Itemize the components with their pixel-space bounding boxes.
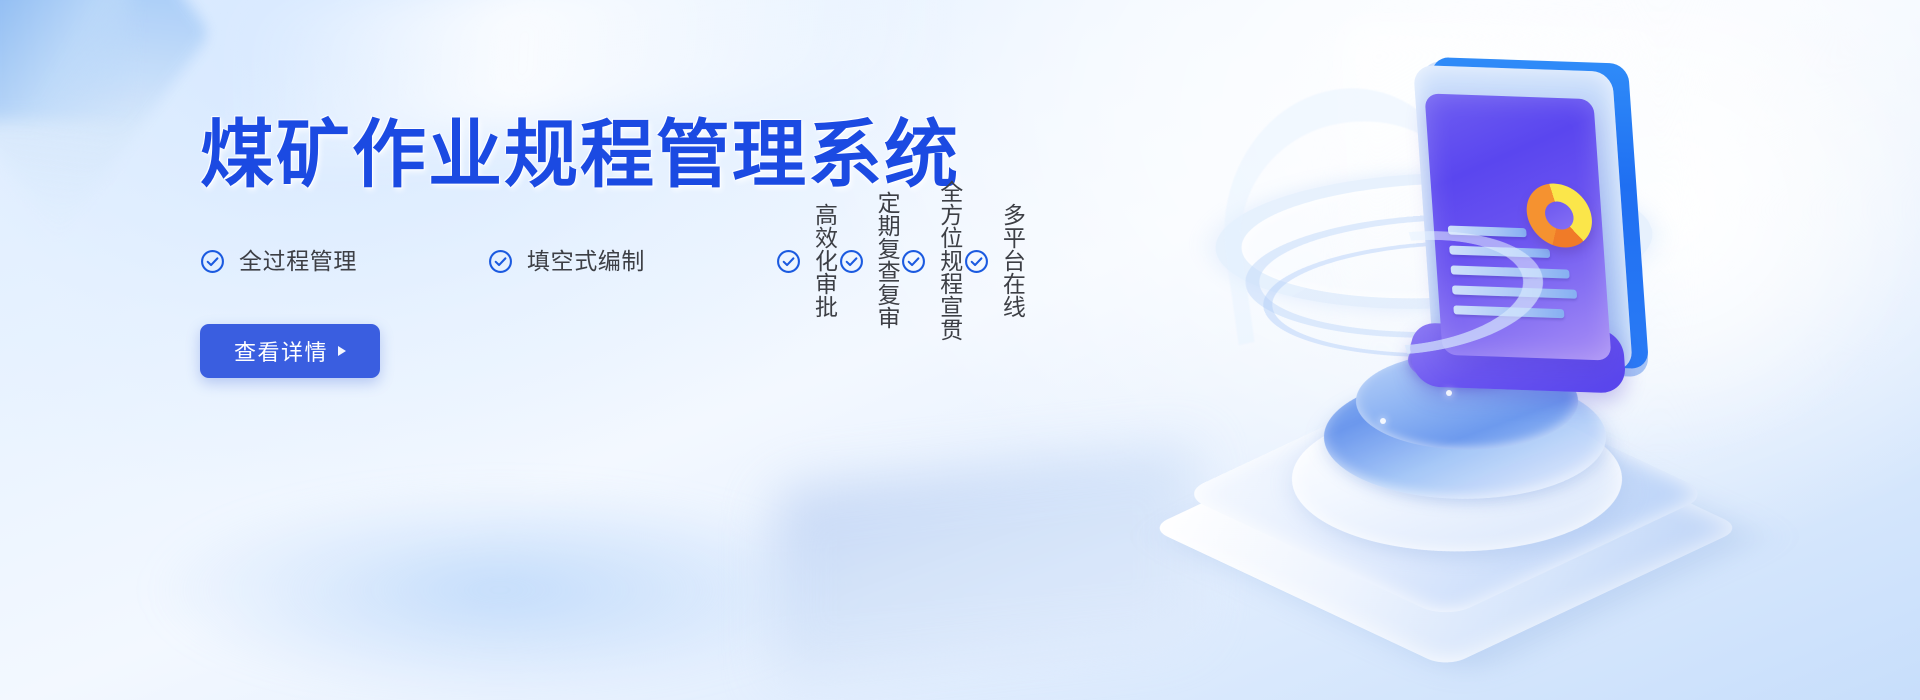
feature-label: 全方位规程宣贯 bbox=[940, 181, 964, 342]
banner-copy-block: 煤矿作业规程管理系统 全过程管理 填空式编制 bbox=[200, 118, 1020, 378]
check-circle-icon bbox=[200, 249, 225, 274]
feature-label: 高效化审批 bbox=[815, 204, 839, 319]
hero-banner: 煤矿作业规程管理系统 全过程管理 填空式编制 bbox=[0, 0, 1920, 700]
feature-label: 填空式编制 bbox=[527, 250, 645, 273]
check-circle-icon bbox=[488, 249, 513, 274]
feature-label: 定期复查复审 bbox=[878, 192, 902, 330]
feature-item-2: 填空式编制 bbox=[488, 238, 776, 284]
banner-title: 煤矿作业规程管理系统 bbox=[200, 118, 1020, 192]
feature-item-6: 多平台在线 bbox=[964, 238, 1027, 284]
feature-label: 多平台在线 bbox=[1003, 204, 1027, 319]
view-details-button[interactable]: 查看详情 bbox=[200, 324, 380, 378]
view-details-label: 查看详情 bbox=[234, 335, 328, 367]
check-circle-icon bbox=[839, 249, 864, 274]
check-circle-icon bbox=[964, 249, 989, 274]
feature-item-4: 定期复查复审 bbox=[839, 238, 902, 284]
check-circle-icon bbox=[901, 249, 926, 274]
feature-item-5: 全方位规程宣贯 bbox=[901, 238, 964, 284]
feature-item-3: 高效化审批 bbox=[776, 238, 839, 284]
hero-illustration bbox=[1184, 18, 1824, 598]
triangle-right-icon bbox=[338, 346, 346, 356]
blurred-cube-inner-face-icon bbox=[0, 0, 130, 120]
sparkle-icon bbox=[1446, 390, 1452, 396]
feature-item-1: 全过程管理 bbox=[200, 238, 488, 284]
sparkle-icon bbox=[1380, 418, 1386, 424]
feature-list: 全过程管理 填空式编制 高效化审批 bbox=[200, 238, 1020, 284]
feature-label: 全过程管理 bbox=[239, 250, 357, 273]
check-circle-icon bbox=[776, 249, 801, 274]
